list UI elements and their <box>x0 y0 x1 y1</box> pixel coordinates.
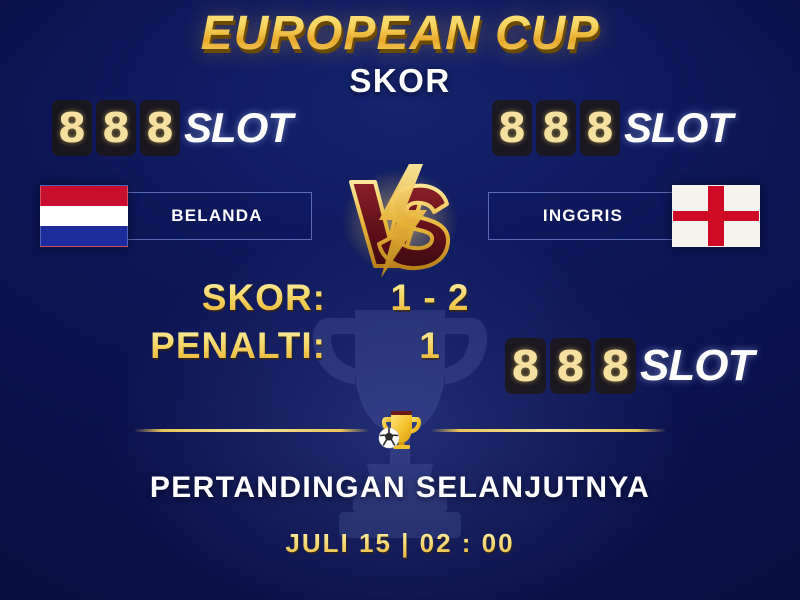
brand-watermark-top-left: 8 8 8 SLOT <box>52 100 292 156</box>
section-divider <box>0 408 800 452</box>
score-row: SKOR: 1 - 2 <box>0 278 800 318</box>
next-match-datetime: JULI 15 | 02 : 00 <box>0 528 800 559</box>
watermark-digit: 8 <box>595 338 636 394</box>
penalty-label: PENALTI: <box>0 326 330 366</box>
watermark-digit: 8 <box>140 100 180 156</box>
watermark-digit: 8 <box>52 100 92 156</box>
england-flag-icon <box>672 185 760 247</box>
brand-watermark-top-right: 8 8 8 SLOT <box>492 100 732 156</box>
watermark-word: SLOT <box>640 341 753 391</box>
divider-line-right <box>431 429 666 432</box>
home-team-name: BELANDA <box>122 192 312 240</box>
next-match-label: PERTANDINGAN SELANJUTNYA <box>0 471 800 505</box>
score-value: 1 - 2 <box>330 278 530 318</box>
watermark-word: SLOT <box>184 104 292 152</box>
watermark-word: SLOT <box>624 104 732 152</box>
trophy-ball-icon <box>371 408 429 452</box>
brand-watermark-score: 8 8 8 SLOT <box>505 338 753 394</box>
home-team: BELANDA <box>40 185 312 247</box>
watermark-digit: 8 <box>492 100 532 156</box>
away-team: INGGRIS <box>488 185 760 247</box>
watermark-digit: 8 <box>580 100 620 156</box>
watermark-digits: 8 8 8 <box>505 338 636 394</box>
divider-line-left <box>134 429 369 432</box>
scoreboard-graphic: EUROPEAN CUP SKOR 8 8 8 SLOT 8 8 8 SLOT … <box>0 0 800 600</box>
watermark-digit: 8 <box>505 338 546 394</box>
netherlands-flag-icon <box>40 185 128 247</box>
watermark-digit: 8 <box>96 100 136 156</box>
watermark-digits: 8 8 8 <box>52 100 180 156</box>
watermark-digit: 8 <box>550 338 591 394</box>
penalty-value: 1 <box>330 326 530 366</box>
watermark-digits: 8 8 8 <box>492 100 620 156</box>
score-label: SKOR: <box>0 278 330 318</box>
versus-icon <box>335 162 465 280</box>
watermark-digit: 8 <box>536 100 576 156</box>
away-team-name: INGGRIS <box>488 192 678 240</box>
page-subtitle: SKOR <box>0 62 800 100</box>
page-title: EUROPEAN CUP <box>0 6 800 61</box>
